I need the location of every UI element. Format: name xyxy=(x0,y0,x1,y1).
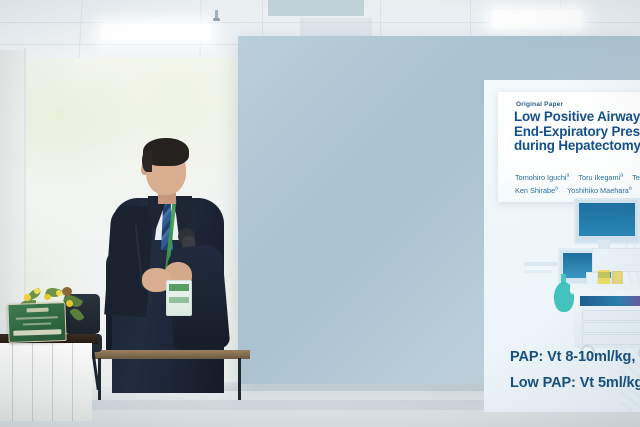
slide-title-line: during Hepatectomy in Living Liver Donor… xyxy=(514,139,640,154)
projected-slide: Original Paper Low Positive Airway Press… xyxy=(484,80,640,412)
speaker-hair-side xyxy=(142,150,152,172)
slide-bullet: Low PAP: Vt 5ml/kg, Rate 15 xyxy=(510,370,640,396)
author-row: Ken ShirabeaYoshihiko Maeharaa xyxy=(515,184,640,197)
nameplate-line xyxy=(23,323,51,326)
ceiling-light-panel xyxy=(492,10,582,28)
skirted-head-table xyxy=(0,334,106,420)
author-row: Tomohiro IguchiaToru IkegamiaTetsuhiro F… xyxy=(515,171,640,184)
side-table xyxy=(90,350,250,398)
slide-kicker: Original Paper xyxy=(516,101,563,108)
presentation-photo-scene: Original Paper Low Positive Airway Press… xyxy=(0,0,640,427)
ceiling-air-vent xyxy=(268,0,364,16)
author-entry: Yoshihiko Maeharaa xyxy=(567,186,632,195)
nameplate-name-text xyxy=(13,329,61,336)
anesthesia-workstation-figure xyxy=(514,198,640,353)
author-entry: Toru Ikegamia xyxy=(578,173,623,182)
projection-screen-frame: Original Paper Low Positive Airway Press… xyxy=(238,36,640,384)
conference-badge xyxy=(166,280,192,316)
nameplate-line xyxy=(16,316,58,319)
ceiling-light-panel xyxy=(100,24,210,40)
slide-bullet: PAP: Vt 8-10ml/kg, Rate 12 xyxy=(510,344,640,370)
paper-header-card: Original Paper Low Positive Airway Press… xyxy=(498,92,640,202)
author-entry: Ken Shirabea xyxy=(515,186,558,195)
speaker-nameplate xyxy=(7,302,66,343)
speaker-shoulder xyxy=(104,205,154,318)
slide-title-line: End-Expiratory Pressure Decreases Blood … xyxy=(514,125,640,140)
slide-title-line: Low Positive Airway Pressure without Pos… xyxy=(514,110,640,125)
ceiling-sprinkler xyxy=(215,10,218,20)
author-entry: Tomohiro Iguchia xyxy=(515,173,569,182)
patient-monitor-icon xyxy=(574,198,640,244)
author-entry: Tetsuhiro Fujiyoshib xyxy=(632,173,640,182)
slide-bullets: PAP: Vt 8-10ml/kg, Rate 12 Low PAP: Vt 5… xyxy=(510,344,640,396)
slide-title: Low Positive Airway Pressure without Pos… xyxy=(514,110,640,154)
nameplate-logo xyxy=(27,308,49,313)
slide-authors: Tomohiro IguchiaToru IkegamiaTetsuhiro F… xyxy=(515,171,640,197)
